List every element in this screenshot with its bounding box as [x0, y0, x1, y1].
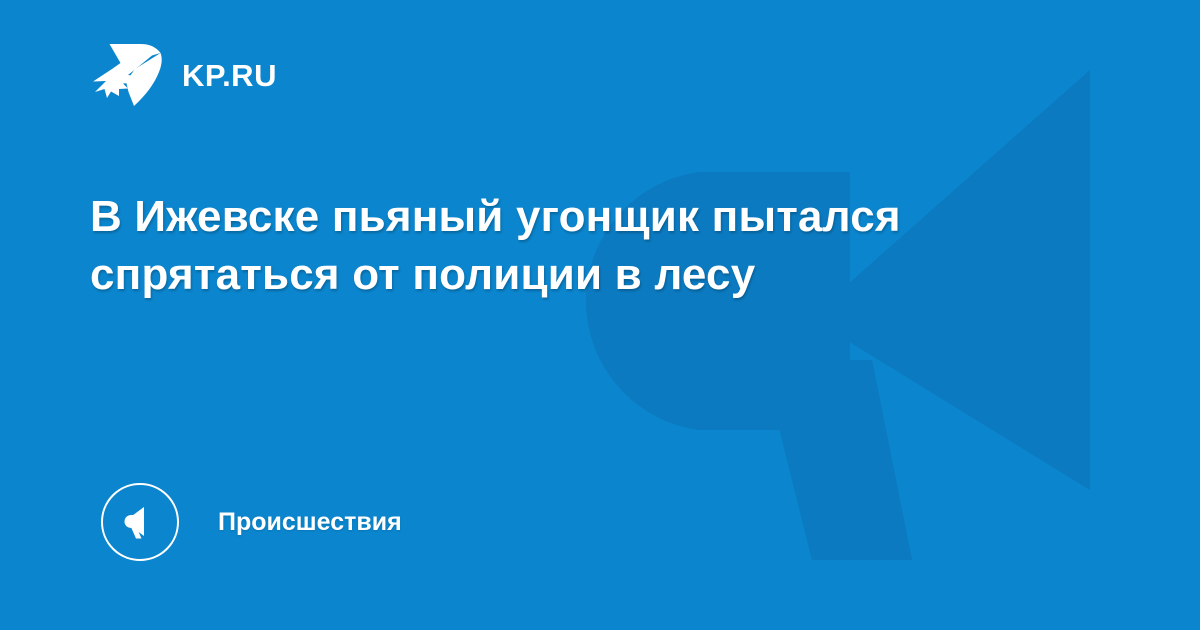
page-title: В Ижевске пьяный угонщик пытался спрятат…	[90, 188, 1050, 304]
article-share-card: KP.RU В Ижевске пьяный угонщик пытался с…	[0, 0, 1200, 630]
category-icon-circle	[101, 483, 179, 561]
swallow-bird-icon	[90, 36, 170, 114]
megaphone-icon	[120, 502, 160, 542]
site-header[interactable]: KP.RU	[90, 36, 277, 114]
brand-name: KP.RU	[182, 60, 277, 91]
category-label: Происшествия	[218, 510, 402, 535]
category-badge[interactable]: Происшествия	[101, 483, 402, 561]
